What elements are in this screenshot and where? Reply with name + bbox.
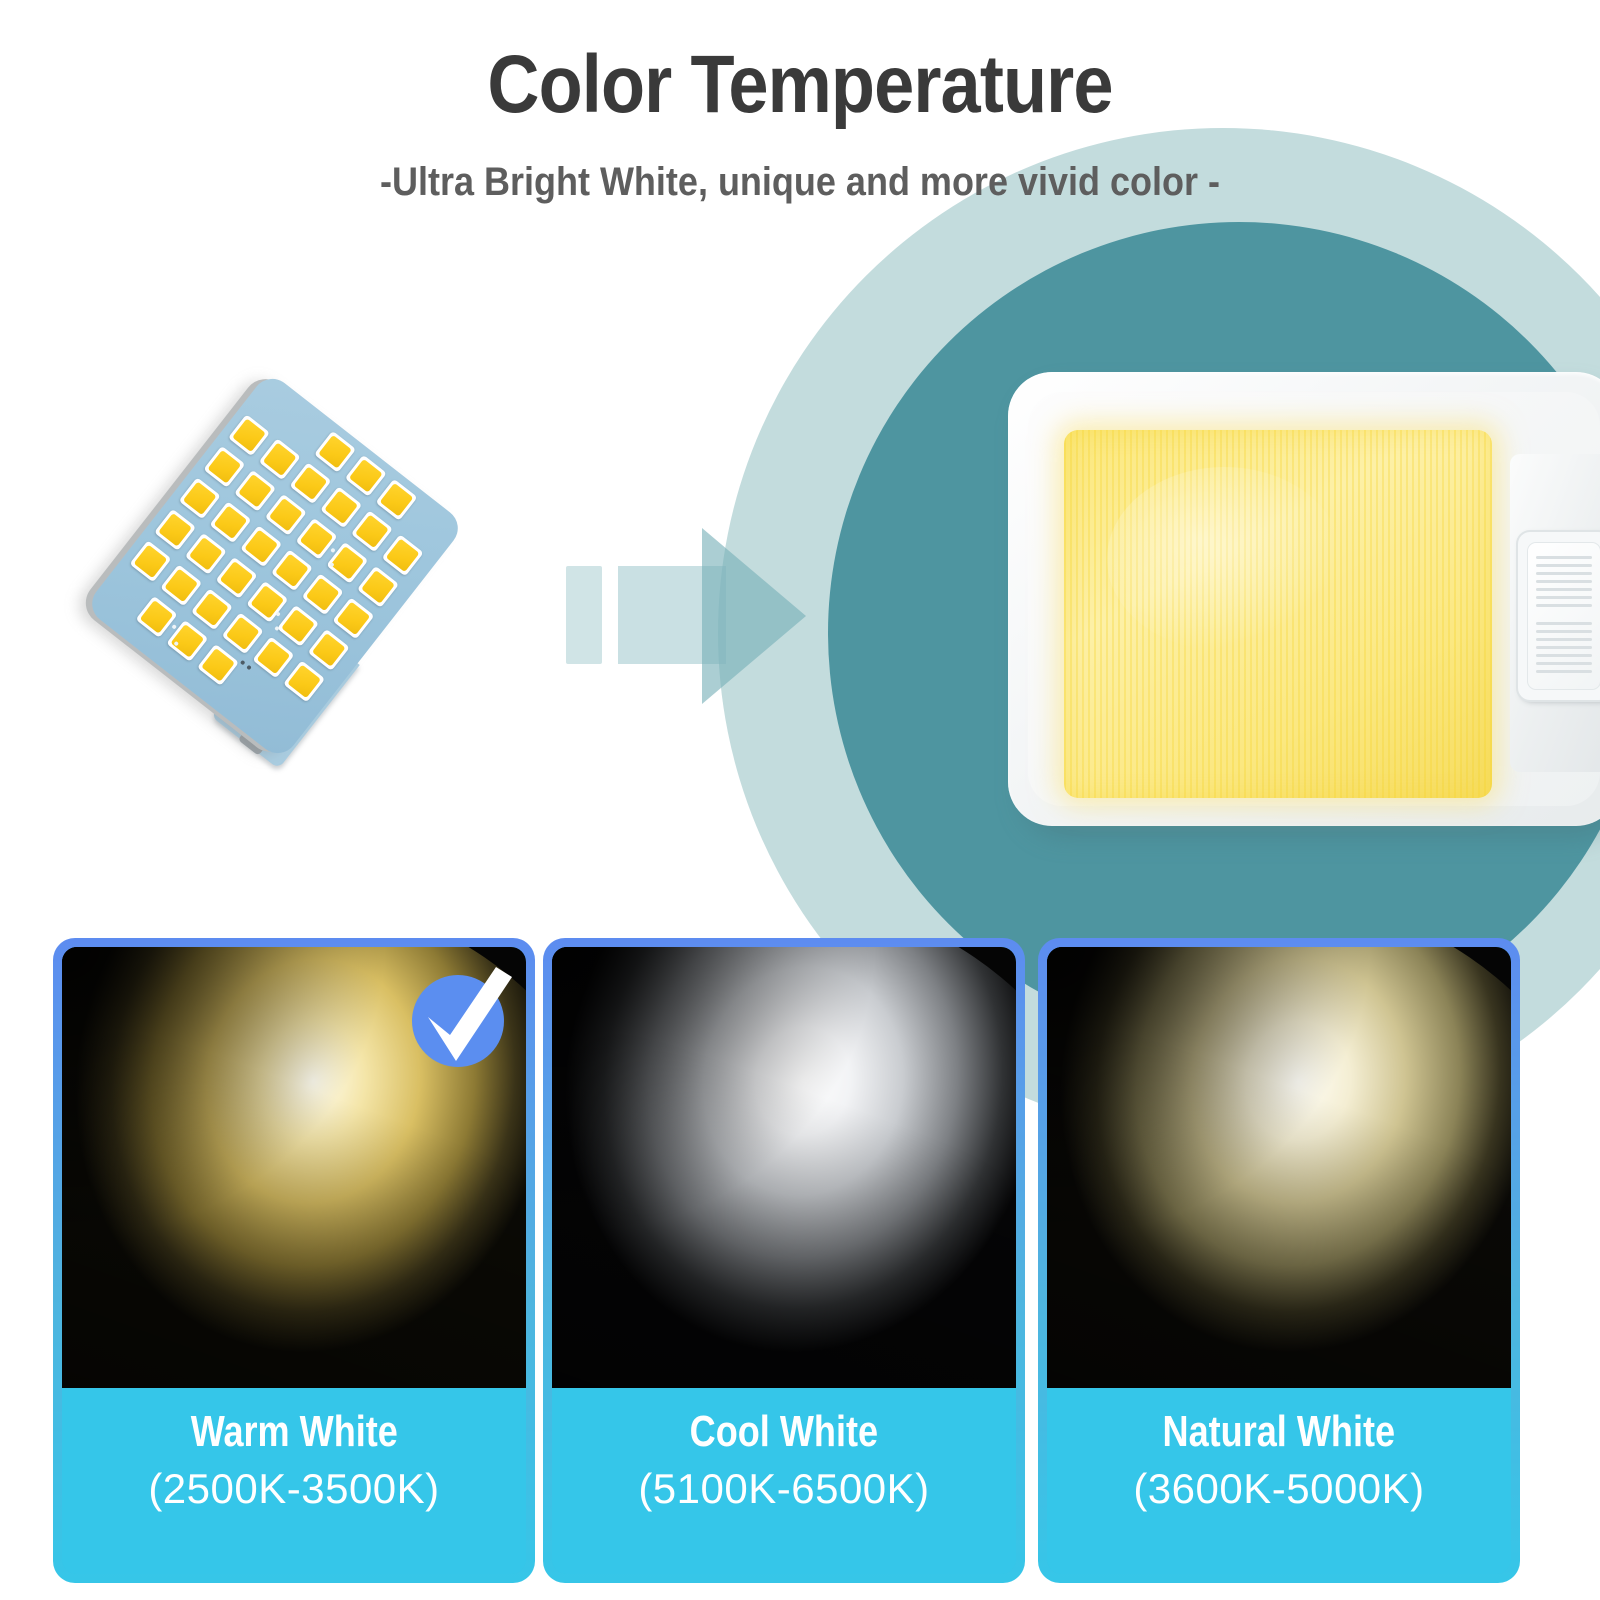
card-inner: Warm White (2500K-3500K) xyxy=(62,947,526,1574)
led-chip xyxy=(289,462,331,504)
led-chip xyxy=(283,660,325,702)
led-chip xyxy=(277,605,319,647)
photo-vignette-bottom xyxy=(552,947,1016,1405)
infographic-canvas: Color Temperature -Ultra Bright White, u… xyxy=(0,0,1600,1600)
led-chip xyxy=(252,636,294,678)
card-title: Cool White xyxy=(690,1410,878,1454)
card-kelvin-range: (3600K-5000K) xyxy=(1133,1468,1424,1510)
led-chip xyxy=(209,501,251,543)
card-title: Natural White xyxy=(1163,1410,1396,1454)
rv-dome-light xyxy=(1008,372,1600,842)
led-chip xyxy=(179,477,221,519)
led-chip xyxy=(345,455,387,497)
switch-bay xyxy=(1510,454,1600,772)
card-kelvin-range: (5100K-6500K) xyxy=(638,1468,929,1510)
led-chip xyxy=(246,581,288,623)
rocker-bottom-half[interactable] xyxy=(1536,622,1592,678)
led-chip xyxy=(382,534,424,576)
led-chip xyxy=(314,431,356,473)
pcb-via xyxy=(240,660,246,666)
led-chip xyxy=(265,494,307,536)
arrow-tail-segment xyxy=(566,566,602,664)
led-chip xyxy=(320,486,362,528)
card-kelvin-range: (2500K-3500K) xyxy=(148,1468,439,1510)
card-title: Warm White xyxy=(190,1410,397,1454)
card-label-pane: Warm White (2500K-3500K) xyxy=(62,1388,526,1574)
page-title: Color Temperature xyxy=(96,44,1504,126)
rocker-switch[interactable] xyxy=(1527,542,1600,690)
card-label-pane: Natural White (3600K-5000K) xyxy=(1047,1388,1511,1574)
led-chip xyxy=(129,540,171,582)
led-chip xyxy=(375,479,417,521)
led-chip xyxy=(259,438,301,480)
led-chip xyxy=(216,557,258,599)
led-chip xyxy=(332,597,374,639)
selected-check-icon xyxy=(412,975,504,1067)
led-chip xyxy=(228,414,270,456)
pcb-via xyxy=(246,665,252,671)
checkmark-glyph xyxy=(416,959,520,1071)
arrow-head xyxy=(702,528,806,704)
dome-housing xyxy=(1008,372,1600,826)
rocker-switch-plate[interactable] xyxy=(1518,532,1600,700)
led-chip xyxy=(203,446,245,488)
comparison-card-cool-white[interactable]: Cool White (5100K-6500K) xyxy=(543,938,1025,1583)
photo-vignette-bottom xyxy=(1047,947,1511,1405)
led-chip xyxy=(154,509,196,551)
card-inner: Cool White (5100K-6500K) xyxy=(552,947,1016,1574)
comparison-card-warm-white[interactable]: Warm White (2500K-3500K) xyxy=(53,938,535,1583)
led-chip xyxy=(197,644,239,686)
led-chip xyxy=(271,549,313,591)
dome-inner-frame xyxy=(1028,392,1600,806)
led-chip xyxy=(308,629,350,671)
comparison-card-natural-white[interactable]: Natural White (3600K-5000K) xyxy=(1038,938,1520,1583)
board-face xyxy=(84,371,466,761)
pcb-via xyxy=(275,611,281,617)
led-chip xyxy=(351,510,393,552)
led-chip xyxy=(295,518,337,560)
transform-arrow-icon xyxy=(566,528,806,708)
card-label-pane: Cool White (5100K-6500K) xyxy=(552,1388,1016,1574)
color-temperature-comparison: Warm White (2500K-3500K) Cool White (510… xyxy=(0,938,1600,1588)
pcb-body xyxy=(84,371,466,761)
led-chip xyxy=(191,588,233,630)
beam-photo-natural xyxy=(1047,947,1511,1405)
card-inner: Natural White (3600K-5000K) xyxy=(1047,947,1511,1574)
led-chip xyxy=(222,612,264,654)
led-chip xyxy=(240,525,282,567)
led-chip xyxy=(136,596,178,638)
rocker-top-half[interactable] xyxy=(1536,556,1592,612)
glowing-lens xyxy=(1064,430,1492,798)
page-subtitle: -Ultra Bright White, unique and more viv… xyxy=(80,162,1520,202)
led-chip xyxy=(234,470,276,512)
led-chip xyxy=(357,566,399,608)
led-chip xyxy=(302,573,344,615)
led-chip xyxy=(160,564,202,606)
led-chip-grid xyxy=(95,381,456,750)
led-chip xyxy=(185,533,227,575)
led-pcb-board xyxy=(96,368,466,838)
beam-photo-cool xyxy=(552,947,1016,1405)
